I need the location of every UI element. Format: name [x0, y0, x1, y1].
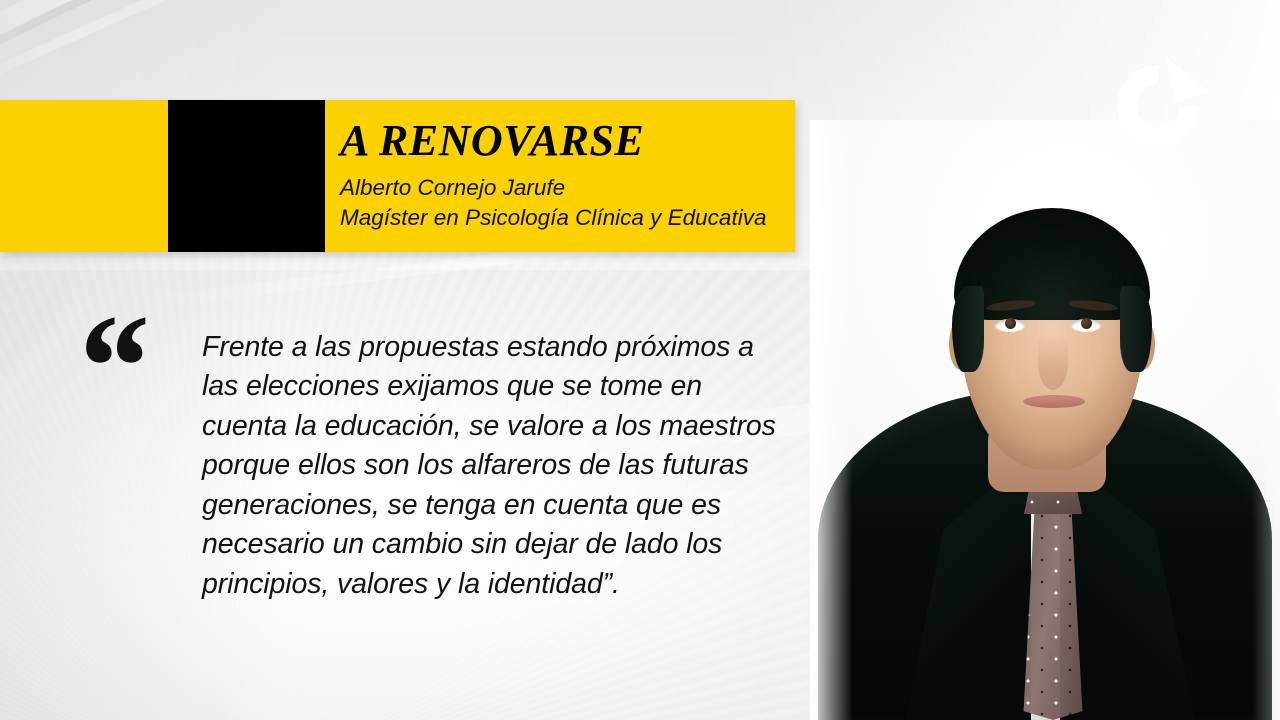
pupil-right [1081, 318, 1092, 329]
circular-arrow-icon [1104, 52, 1212, 160]
hair-sideburn-left [952, 286, 984, 372]
banner-author-name: Alberto Cornejo Jarufe [340, 163, 790, 203]
mouth [1023, 395, 1085, 408]
quote-text: Frente a las propuestas estando próximos… [202, 328, 782, 604]
nose [1038, 336, 1068, 390]
banner-author-credential: Magíster en Psicología Clínica y Educati… [340, 203, 790, 233]
banner-black-block [168, 100, 325, 252]
portrait-photo [810, 120, 1280, 720]
chin [1006, 414, 1100, 458]
banner-title: A RENOVARSE [340, 100, 790, 163]
quote-card: A RENOVARSE Alberto Cornejo Jarufe Magís… [0, 0, 1280, 720]
pupil-left [1005, 318, 1016, 329]
open-quote-icon: “ [72, 292, 141, 442]
header-banner: A RENOVARSE Alberto Cornejo Jarufe Magís… [0, 100, 795, 252]
banner-text-group: A RENOVARSE Alberto Cornejo Jarufe Magís… [340, 100, 790, 252]
hair-sideburn-right [1120, 286, 1152, 372]
